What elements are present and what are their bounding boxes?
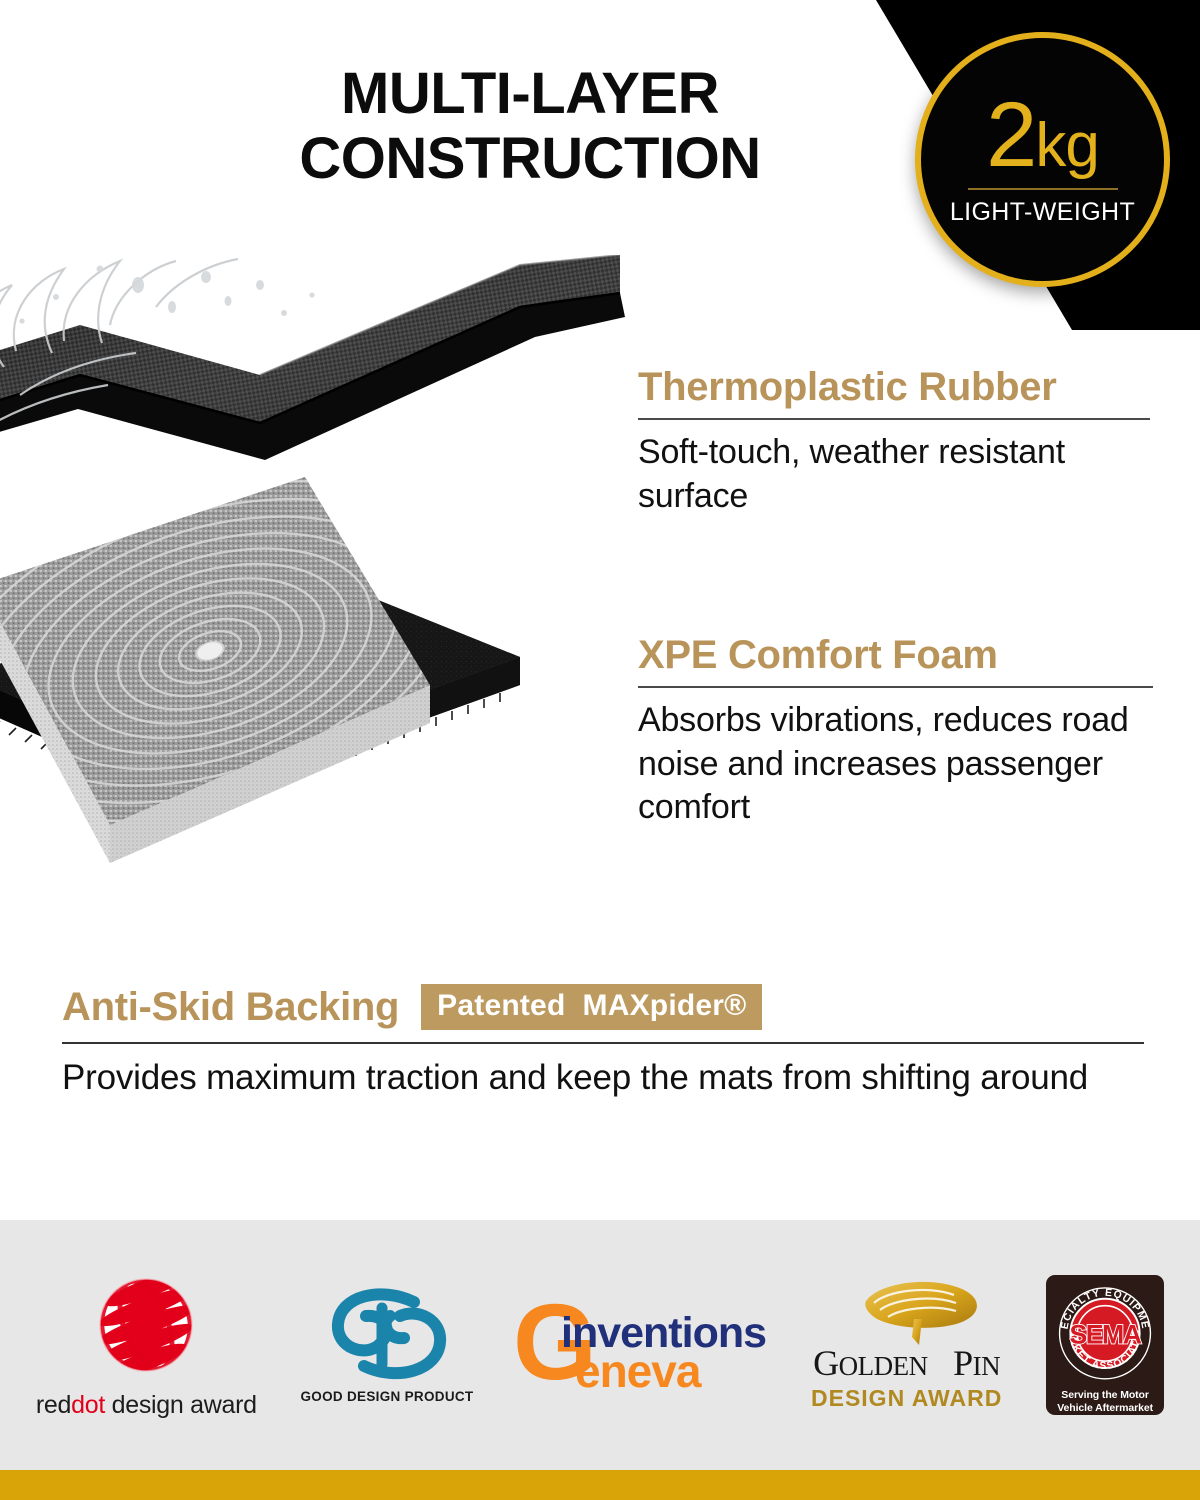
spec-divider <box>638 418 1150 420</box>
sema-seal-icon: SPECIALTY EQUIPMENT MARKET ASSOCIATION S… <box>1053 1282 1157 1385</box>
sema-subtitle: Serving the Motor Vehicle Aftermarket <box>1057 1389 1153 1415</box>
spec-heading: XPE Comfort Foam <box>638 634 1153 677</box>
reddot-sphere-icon <box>87 1271 205 1383</box>
page-title: MULTI-LAYER CONSTRUCTION <box>230 62 830 192</box>
bottom-gold-bar <box>0 1470 1200 1500</box>
weight-badge-divider <box>968 188 1118 190</box>
award-golden-pin-design-award: GOLDEN PIN DESIGN AWARD <box>811 1279 1002 1412</box>
spec-xpe-comfort-foam: XPE Comfort Foam Absorbs vibrations, red… <box>638 634 1153 830</box>
weight-value-unit: kg <box>1035 117 1098 176</box>
award-sema: SPECIALTY EQUIPMENT MARKET ASSOCIATION S… <box>1046 1275 1164 1415</box>
page-title-line-2: CONSTRUCTION <box>230 127 830 192</box>
sema-acronym: SEMA <box>1070 1319 1142 1349</box>
weight-badge-value: 2 kg <box>986 92 1099 183</box>
spec-body: Absorbs vibrations, reduces road noise a… <box>638 699 1153 830</box>
awards-strip: reddot design award GOOD DESIGN PRODUCT … <box>0 1220 1200 1470</box>
golden-pin-wordmark: GOLDEN PIN <box>813 1345 1000 1381</box>
thermoplastic-rubber-top-layer <box>0 255 625 460</box>
golden-pin-p: P <box>953 1343 973 1383</box>
award-reddot-design-award: reddot design award <box>36 1271 257 1420</box>
anti-skid-heading: Anti-Skid Backing <box>62 985 399 1029</box>
reddot-label-red: red <box>36 1391 71 1419</box>
page-title-line-1: MULTI-LAYER <box>230 62 830 127</box>
golden-pin-subtitle: DESIGN AWARD <box>811 1385 1002 1412</box>
spec-body: Soft-touch, weather resistant surface <box>638 431 1150 518</box>
golden-pin-swirl-icon <box>822 1279 992 1345</box>
reddot-label-rest: design award <box>105 1391 257 1419</box>
good-design-gd-icon <box>322 1286 452 1382</box>
inventions-geneva-logo-icon: G inventions eneva <box>517 1291 767 1399</box>
golden-pin-in: IN <box>973 1351 1001 1381</box>
reddot-label-dot: dot <box>71 1391 105 1419</box>
sema-badge: SPECIALTY EQUIPMENT MARKET ASSOCIATION S… <box>1046 1275 1164 1415</box>
award-inventions-geneva: G inventions eneva <box>517 1291 767 1399</box>
patented-maxpider-badge: Patented MAXpider® <box>421 984 762 1030</box>
golden-pin-olden: OLDEN <box>839 1351 928 1381</box>
spec-anti-skid-backing: Anti-Skid Backing Patented MAXpider® Pro… <box>62 984 1144 1100</box>
spec-divider <box>638 686 1153 688</box>
spec-thermoplastic-rubber: Thermoplastic Rubber Soft-touch, weather… <box>638 366 1150 518</box>
weight-badge: 2 kg LIGHT-WEIGHT <box>915 32 1170 287</box>
spec-heading: Thermoplastic Rubber <box>638 366 1150 409</box>
anti-skid-body: Provides maximum traction and keep the m… <box>62 1056 1144 1100</box>
sema-subtitle-line-2: Vehicle Aftermarket <box>1057 1402 1153 1415</box>
good-design-label: GOOD DESIGN PRODUCT <box>301 1389 474 1404</box>
anti-skid-divider <box>62 1042 1144 1044</box>
product-exploded-illustration <box>0 255 660 975</box>
weight-value-number: 2 <box>986 92 1035 179</box>
reddot-label: reddot design award <box>36 1391 257 1420</box>
geneva-word: eneva <box>575 1345 702 1397</box>
golden-pin-g: G <box>813 1343 839 1383</box>
sema-subtitle-line-1: Serving the Motor <box>1057 1389 1153 1402</box>
weight-badge-label: LIGHT-WEIGHT <box>950 198 1135 227</box>
award-good-design-product: GOOD DESIGN PRODUCT <box>301 1286 474 1404</box>
anti-skid-heading-row: Anti-Skid Backing Patented MAXpider® <box>62 984 1144 1030</box>
